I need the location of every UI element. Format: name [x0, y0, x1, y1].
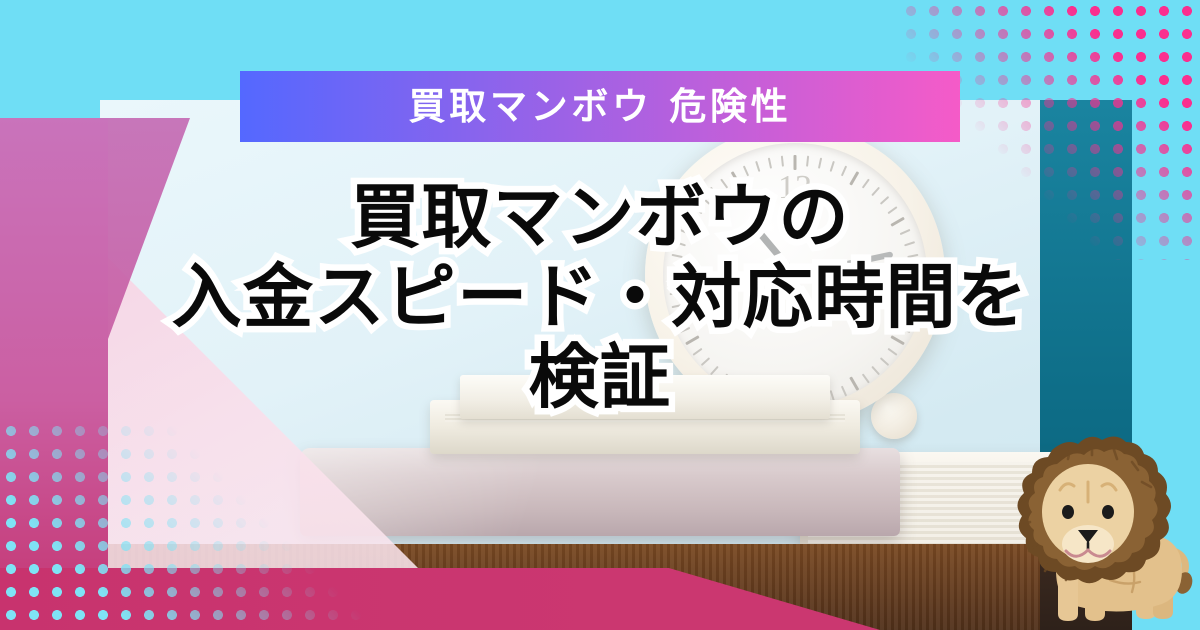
- clock-numeral-12: 12: [778, 169, 812, 207]
- clock-tick: [701, 196, 711, 205]
- clock-tick: [880, 357, 890, 366]
- clock-tick: [710, 187, 719, 197]
- clock-tick: [781, 156, 784, 167]
- clock-tick: [871, 187, 880, 197]
- clock-numeral-3: 3: [870, 267, 908, 284]
- clock-center-pin: [786, 266, 804, 284]
- clock-tick: [669, 280, 684, 283]
- clock-tick: [720, 178, 728, 188]
- clock-tick: [685, 217, 699, 227]
- dot-pattern-bottom-left: [0, 420, 400, 630]
- clock-tick: [672, 304, 683, 308]
- clock-tick: [906, 280, 921, 283]
- clock-tick: [871, 366, 880, 376]
- clock-tick: [818, 158, 822, 169]
- clock-tick: [692, 206, 702, 214]
- clock-tick: [887, 348, 897, 356]
- clock-tick: [692, 348, 702, 356]
- clock-tick: [849, 171, 859, 185]
- category-badge: 買取マンボウ 危険性: [240, 71, 960, 142]
- clock-tick: [806, 156, 809, 167]
- clock-tick: [675, 241, 686, 246]
- clock-tick: [841, 165, 847, 176]
- lion-eye-left: [1062, 505, 1074, 519]
- lion-illustration: [990, 430, 1200, 630]
- book-top-white: [460, 375, 830, 419]
- clock-tick: [862, 178, 870, 188]
- clock-tick: [794, 155, 797, 170]
- clock-tick: [755, 161, 760, 172]
- category-badge-label: 買取マンボウ 危険性: [409, 88, 792, 125]
- clock-tick: [675, 316, 686, 321]
- clock-tick: [887, 206, 897, 214]
- clock-tick: [670, 292, 681, 295]
- clock-face: 12 3: [663, 143, 927, 407]
- clock-tick: [841, 386, 847, 397]
- clock-tick: [701, 357, 711, 366]
- clock-tick: [670, 267, 681, 270]
- clock-tick: [768, 158, 772, 169]
- clock-tick: [672, 254, 683, 258]
- clock-tick: [830, 161, 835, 172]
- clock-tick: [890, 335, 904, 345]
- clock-tick: [880, 196, 890, 205]
- clock-tick: [679, 229, 690, 235]
- clock-tick: [862, 373, 870, 383]
- clock-tick: [909, 292, 920, 295]
- clock-tick: [909, 267, 920, 270]
- clock-tick: [710, 366, 719, 376]
- clock-tick: [685, 335, 699, 345]
- clock-tick: [907, 304, 918, 308]
- clock-tick: [731, 171, 741, 185]
- clock-tick: [743, 165, 749, 176]
- clock-tick: [900, 327, 911, 333]
- clock-tick: [849, 376, 859, 390]
- thumbnail-canvas: 12 3: [0, 0, 1200, 630]
- lion-eye-right: [1102, 505, 1114, 519]
- clock-tick: [679, 327, 690, 333]
- clock-tick: [904, 316, 915, 321]
